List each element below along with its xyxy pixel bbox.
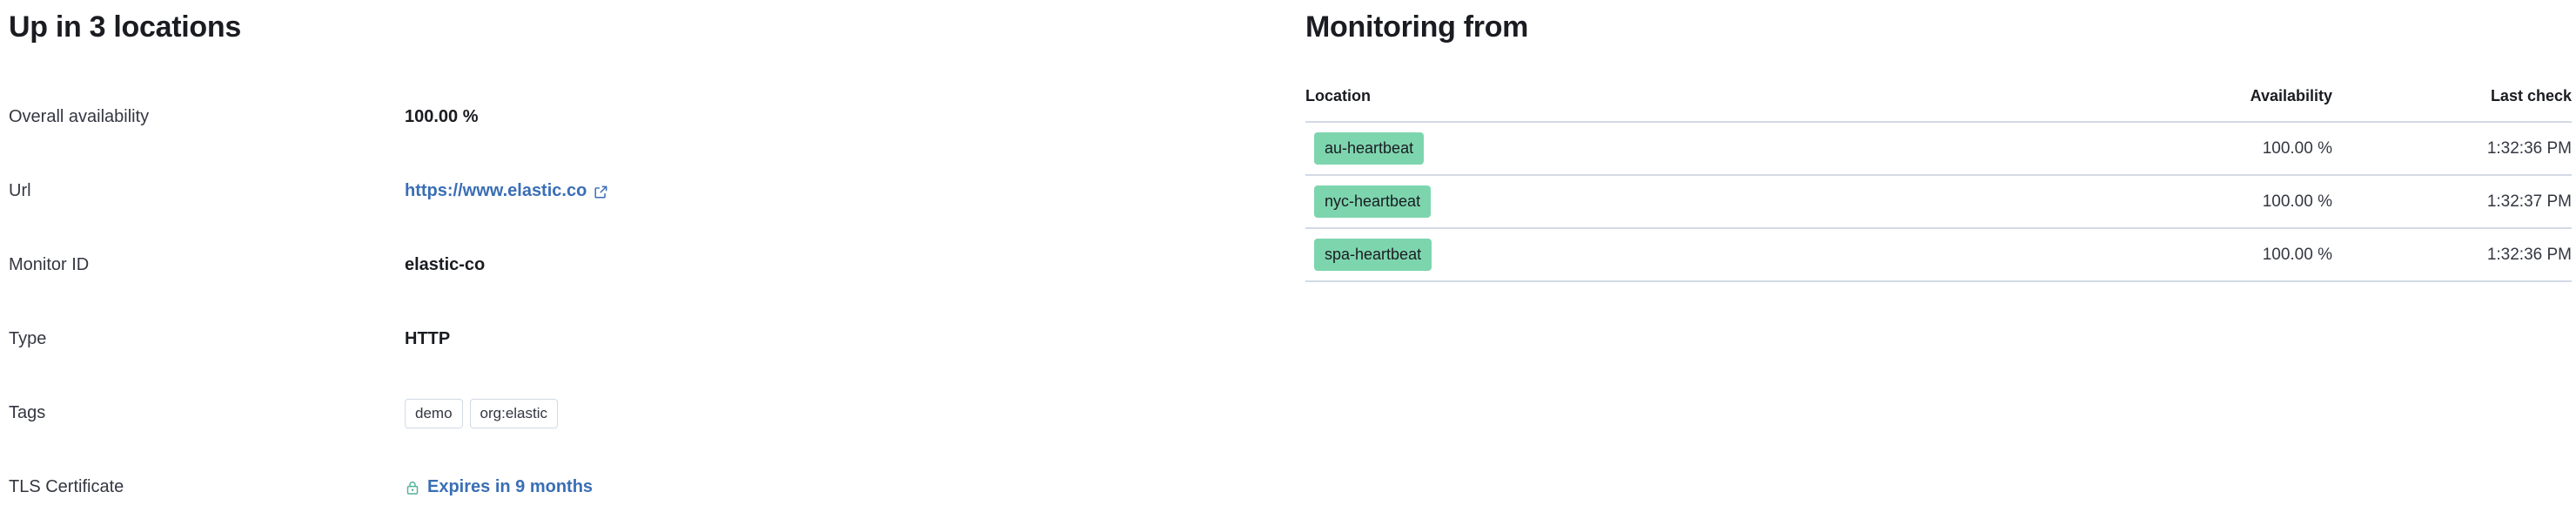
- tag-list: demo org:elastic: [405, 399, 1288, 428]
- cell-location: nyc-heartbeat: [1305, 175, 2036, 228]
- lock-icon: [405, 480, 420, 495]
- page-title: Up in 3 locations: [9, 10, 241, 44]
- cell-last-check: 1:32:37 PM: [2332, 175, 2572, 228]
- detail-row-overall-availability: Overall availability 100.00 %: [9, 104, 1288, 142]
- detail-row-tags: Tags demo org:elastic: [9, 401, 1288, 438]
- detail-row-monitor-id: Monitor ID elastic-co: [9, 253, 1288, 290]
- location-badge[interactable]: nyc-heartbeat: [1314, 185, 1431, 218]
- table-header-row: Location Availability Last check: [1305, 87, 2572, 122]
- cell-location: au-heartbeat: [1305, 122, 2036, 175]
- monitoring-from-title: Monitoring from: [1305, 10, 1528, 44]
- monitor-detail-list: Overall availability 100.00 % Url https:…: [9, 104, 1288, 512]
- monitor-status-panel: Up in 3 locations Overall availability 1…: [9, 0, 1288, 519]
- table-row: spa-heartbeat 100.00 % 1:32:36 PM: [1305, 228, 2572, 281]
- cell-availability: 100.00 %: [2036, 122, 2332, 175]
- label-type: Type: [9, 327, 405, 351]
- monitor-detail-page: Up in 3 locations Overall availability 1…: [0, 0, 2576, 519]
- location-badge[interactable]: spa-heartbeat: [1314, 239, 1432, 271]
- label-tags: Tags: [9, 401, 405, 425]
- cell-last-check: 1:32:36 PM: [2332, 122, 2572, 175]
- tag-badge[interactable]: org:elastic: [470, 399, 558, 428]
- cell-availability: 100.00 %: [2036, 175, 2332, 228]
- label-tls-certificate: TLS Certificate: [9, 475, 405, 499]
- table-header: Location Availability Last check: [1305, 87, 2572, 122]
- column-header-location[interactable]: Location: [1305, 87, 2036, 122]
- cell-last-check: 1:32:36 PM: [2332, 228, 2572, 281]
- url-link[interactable]: https://www.elastic.co: [405, 179, 608, 203]
- table-row: nyc-heartbeat 100.00 % 1:32:37 PM: [1305, 175, 2572, 228]
- cell-location: spa-heartbeat: [1305, 228, 2036, 281]
- detail-row-url: Url https://www.elastic.co: [9, 179, 1288, 216]
- column-header-last-check[interactable]: Last check: [2332, 87, 2572, 122]
- value-tags-wrap: demo org:elastic: [405, 401, 1288, 428]
- label-url: Url: [9, 179, 405, 203]
- tls-certificate-text: Expires in 9 months: [427, 475, 593, 499]
- column-header-availability[interactable]: Availability: [2036, 87, 2332, 122]
- external-link-icon: [594, 185, 608, 199]
- table-body: au-heartbeat 100.00 % 1:32:36 PM nyc-hea…: [1305, 122, 2572, 281]
- location-badge[interactable]: au-heartbeat: [1314, 132, 1424, 165]
- tag-badge[interactable]: demo: [405, 399, 463, 428]
- value-tls-certificate-wrap: Expires in 9 months: [405, 475, 1288, 502]
- label-overall-availability: Overall availability: [9, 104, 405, 129]
- table-row: au-heartbeat 100.00 % 1:32:36 PM: [1305, 122, 2572, 175]
- detail-row-type: Type HTTP: [9, 327, 1288, 364]
- monitoring-locations-table: Location Availability Last check au-hear…: [1305, 87, 2572, 282]
- monitoring-locations-panel: Monitoring from Location Availability La…: [1305, 0, 2572, 519]
- value-overall-availability: 100.00 %: [405, 104, 1288, 129]
- value-monitor-id: elastic-co: [405, 253, 1288, 277]
- value-url-wrap: https://www.elastic.co: [405, 179, 1288, 203]
- detail-row-tls-certificate: TLS Certificate Expires in 9 months: [9, 475, 1288, 512]
- cell-availability: 100.00 %: [2036, 228, 2332, 281]
- value-type: HTTP: [405, 327, 1288, 351]
- url-link-text: https://www.elastic.co: [405, 179, 587, 203]
- tls-certificate-link[interactable]: Expires in 9 months: [405, 475, 593, 499]
- label-monitor-id: Monitor ID: [9, 253, 405, 277]
